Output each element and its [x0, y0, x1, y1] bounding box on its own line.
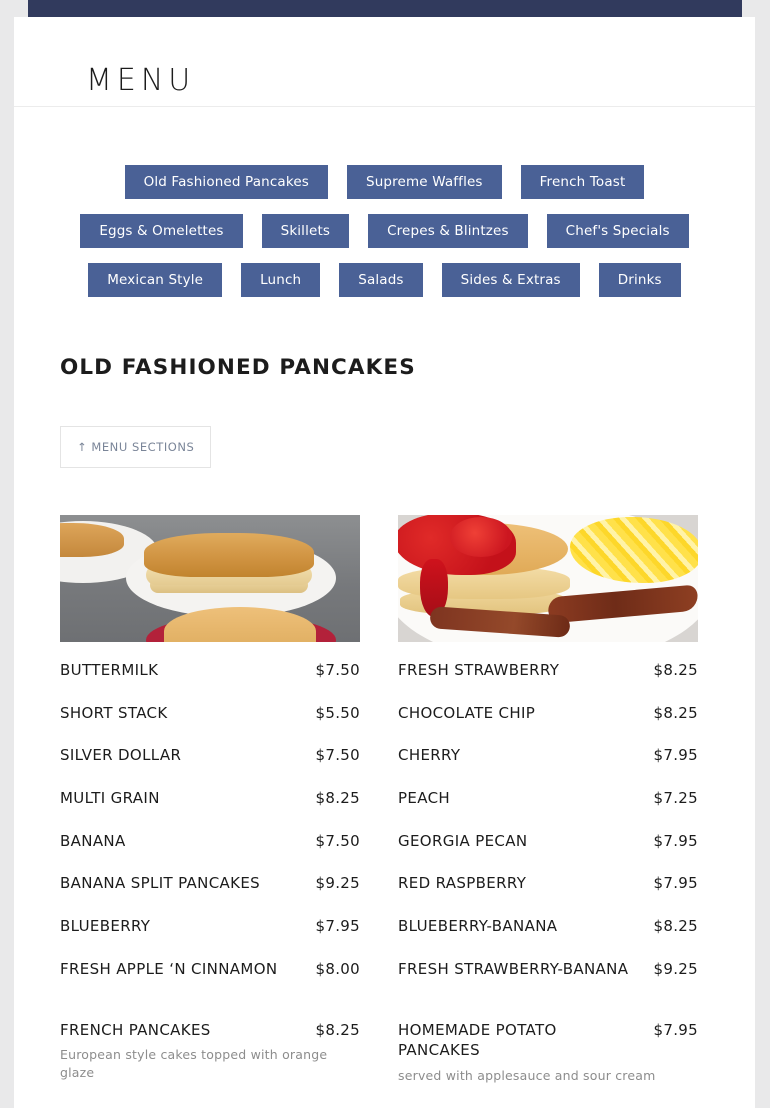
menu-item: HOMEMADE POTATO PANCAKES $7.95 — [398, 1020, 698, 1061]
menu-item: SILVER DOLLAR $7.50 — [60, 745, 360, 766]
menu-item: FRESH STRAWBERRY $8.25 — [398, 660, 698, 681]
menu-item: CHERRY $7.95 — [398, 745, 698, 766]
menu-item: FRESH APPLE ‘N CINNAMON $8.00 — [60, 959, 360, 980]
section-heading: OLD FASHIONED PANCAKES — [60, 355, 755, 380]
menu-column-left: BUTTERMILK $7.50 SHORT STACK $5.50 SILVE… — [60, 515, 360, 1106]
category-button-sides-extras[interactable]: Sides & Extras — [442, 263, 580, 297]
item-description: European style cakes topped with orange … — [60, 1046, 360, 1081]
item-price: $7.50 — [316, 832, 360, 850]
item-price: $7.95 — [316, 917, 360, 935]
category-button-french-toast[interactable]: French Toast — [521, 165, 645, 199]
item-name: FRESH APPLE ‘N CINNAMON — [60, 959, 277, 980]
category-button-crepes-blintzes[interactable]: Crepes & Blintzes — [368, 214, 528, 248]
category-button-skillets[interactable]: Skillets — [262, 214, 349, 248]
menu-item: BLUEBERRY-BANANA $8.25 — [398, 916, 698, 937]
item-price: $7.95 — [654, 746, 698, 764]
item-price: $7.95 — [654, 874, 698, 892]
category-button-mexican-style[interactable]: Mexican Style — [88, 263, 222, 297]
item-price: $8.25 — [654, 704, 698, 722]
menu-column-right: FRESH STRAWBERRY $8.25 CHOCOLATE CHIP $8… — [398, 515, 698, 1106]
item-name: MULTI GRAIN — [60, 788, 160, 809]
menu-item: BANANA SPLIT PANCAKES $9.25 — [60, 873, 360, 894]
category-button-lunch[interactable]: Lunch — [241, 263, 320, 297]
item-price: $9.25 — [316, 874, 360, 892]
category-button-drinks[interactable]: Drinks — [599, 263, 681, 297]
item-name: SHORT STACK — [60, 703, 168, 724]
item-price: $7.95 — [654, 832, 698, 850]
category-nav: Old Fashioned Pancakes Supreme Waffles F… — [14, 107, 755, 297]
category-button-chefs-specials[interactable]: Chef's Specials — [547, 214, 689, 248]
photo-shape — [144, 533, 314, 577]
item-name: SILVER DOLLAR — [60, 745, 181, 766]
item-name: RED RASPBERRY — [398, 873, 526, 894]
page-header: MENU — [14, 17, 755, 107]
page-title: MENU — [86, 66, 195, 96]
item-name: FRENCH PANCAKES — [60, 1020, 211, 1041]
item-name: BLUEBERRY — [60, 916, 150, 937]
menu-item: MULTI GRAIN $8.25 — [60, 788, 360, 809]
item-price: $7.95 — [654, 1021, 698, 1039]
item-price: $8.25 — [654, 917, 698, 935]
item-name: BUTTERMILK — [60, 660, 158, 681]
item-price: $7.50 — [316, 661, 360, 679]
page-frame: MENU Old Fashioned Pancakes Supreme Waff… — [0, 0, 770, 1108]
pancakes-photo — [60, 515, 360, 642]
item-price: $8.25 — [316, 1021, 360, 1039]
strawberry-pancakes-photo — [398, 515, 698, 642]
category-button-old-fashioned-pancakes[interactable]: Old Fashioned Pancakes — [125, 165, 328, 199]
menu-item: BLUEBERRY $7.95 — [60, 916, 360, 937]
item-name: BANANA SPLIT PANCAKES — [60, 873, 260, 894]
menu-grid: BUTTERMILK $7.50 SHORT STACK $5.50 SILVE… — [60, 515, 711, 1106]
item-price: $8.25 — [654, 661, 698, 679]
back-to-sections-wrap: ↑ MENU SECTIONS — [60, 426, 755, 468]
item-name: CHOCOLATE CHIP — [398, 703, 535, 724]
item-name: CHERRY — [398, 745, 460, 766]
category-row-3: Mexican Style Lunch Salads Sides & Extra… — [14, 263, 755, 297]
category-row-1: Old Fashioned Pancakes Supreme Waffles F… — [14, 165, 755, 199]
item-description: served with applesauce and sour cream — [398, 1067, 698, 1085]
item-name: PEACH — [398, 788, 450, 809]
item-price: $7.50 — [316, 746, 360, 764]
item-price: $8.00 — [316, 960, 360, 978]
item-name: HOMEMADE POTATO PANCAKES — [398, 1020, 644, 1061]
menu-item: SHORT STACK $5.50 — [60, 703, 360, 724]
item-price: $9.25 — [654, 960, 698, 978]
menu-item: GEORGIA PECAN $7.95 — [398, 831, 698, 852]
category-button-eggs-omelettes[interactable]: Eggs & Omelettes — [80, 214, 242, 248]
menu-item: FRENCH PANCAKES $8.25 — [60, 1020, 360, 1041]
site-topbar — [28, 0, 742, 17]
item-name: GEORGIA PECAN — [398, 831, 527, 852]
category-button-supreme-waffles[interactable]: Supreme Waffles — [347, 165, 502, 199]
item-price: $5.50 — [316, 704, 360, 722]
item-name: BANANA — [60, 831, 126, 852]
item-name: BLUEBERRY-BANANA — [398, 916, 557, 937]
column-spacer — [398, 1002, 698, 1020]
menu-item: FRESH STRAWBERRY-BANANA $9.25 — [398, 959, 698, 980]
menu-item: CHOCOLATE CHIP $8.25 — [398, 703, 698, 724]
menu-item: BANANA $7.50 — [60, 831, 360, 852]
column-spacer — [60, 1002, 360, 1020]
back-to-menu-sections-button[interactable]: ↑ MENU SECTIONS — [60, 426, 211, 468]
item-price: $7.25 — [654, 789, 698, 807]
category-row-2: Eggs & Omelettes Skillets Crepes & Blint… — [14, 214, 755, 248]
menu-item: BUTTERMILK $7.50 — [60, 660, 360, 681]
item-name: FRESH STRAWBERRY-BANANA — [398, 959, 628, 980]
content-card: MENU Old Fashioned Pancakes Supreme Waff… — [14, 17, 755, 1108]
category-button-salads[interactable]: Salads — [339, 263, 422, 297]
item-name: FRESH STRAWBERRY — [398, 660, 559, 681]
menu-item: RED RASPBERRY $7.95 — [398, 873, 698, 894]
item-price: $8.25 — [316, 789, 360, 807]
menu-item: PEACH $7.25 — [398, 788, 698, 809]
photo-shape — [450, 517, 512, 557]
